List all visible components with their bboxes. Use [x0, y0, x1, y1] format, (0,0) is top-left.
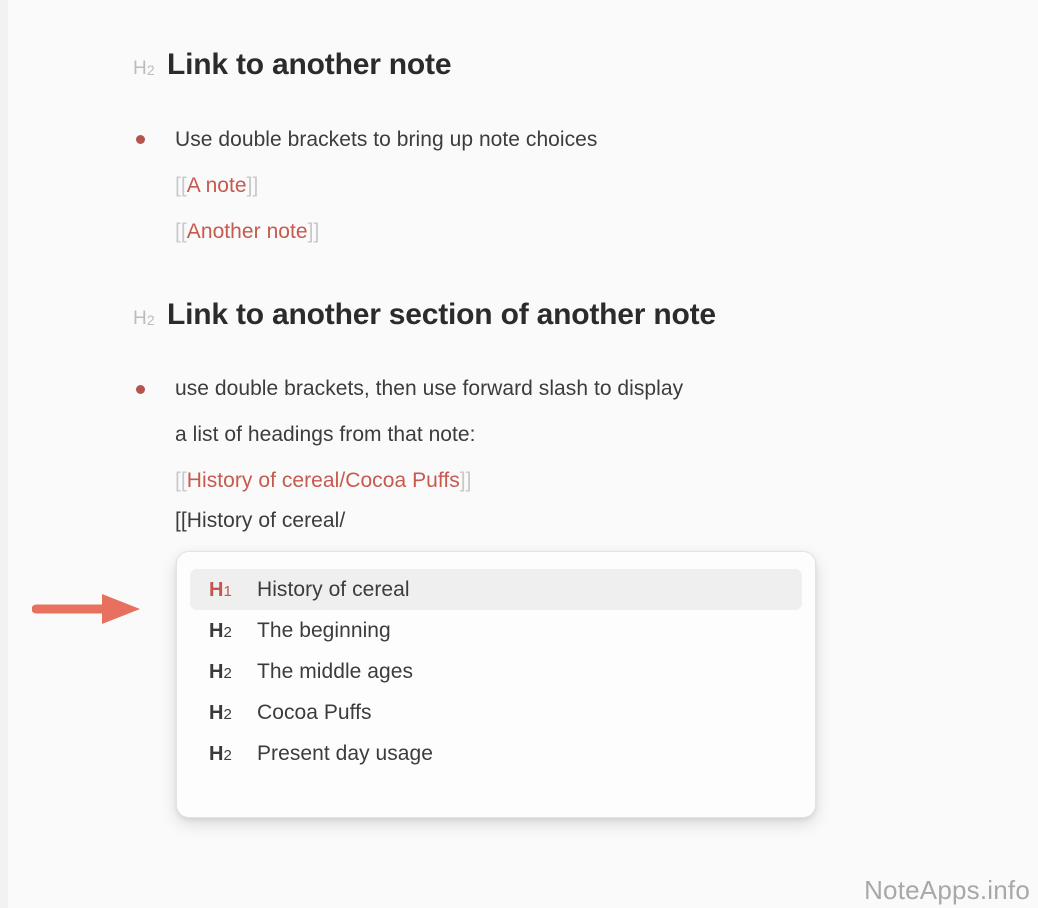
dropdown-item-label: History of cereal	[257, 578, 410, 602]
dropdown-item-label: Present day usage	[257, 742, 433, 766]
wiki-link-a-note[interactable]: [[A note]]	[175, 173, 258, 199]
dropdown-item-cocoa-puffs[interactable]: H2 Cocoa Puffs	[190, 692, 802, 733]
dropdown-item-the-middle-ages[interactable]: H2 The middle ages	[190, 651, 802, 692]
heading-level-badge: H2	[209, 703, 257, 723]
dropdown-item-label: The middle ages	[257, 660, 413, 684]
dropdown-item-label: Cocoa Puffs	[257, 701, 372, 725]
arrow-right-icon	[32, 592, 144, 626]
bracket-close: ]]	[460, 469, 472, 492]
bullet-text-1: Use double brackets to bring up note cho…	[175, 127, 597, 153]
bracket-open: [[	[175, 469, 187, 492]
note-editor[interactable]: H2 Link to another note Use double brack…	[0, 0, 1038, 908]
heading-text: Link to another note	[167, 48, 451, 81]
wiki-link-text[interactable]: A note	[187, 174, 247, 197]
watermark: NoteApps.info	[864, 875, 1030, 906]
typed-wiki-link-in-progress[interactable]: [[History of cereal/	[175, 508, 345, 534]
heading-autocomplete-dropdown[interactable]: H1 History of cereal H2 The beginning H2…	[176, 551, 816, 818]
bullet-dot-icon	[136, 135, 145, 144]
dropdown-item-the-beginning[interactable]: H2 The beginning	[190, 610, 802, 651]
bracket-open: [[	[175, 220, 187, 243]
dropdown-item-history-of-cereal[interactable]: H1 History of cereal	[190, 569, 802, 610]
heading-link-to-another-section[interactable]: H2 Link to another section of another no…	[133, 298, 716, 331]
bracket-close: ]]	[308, 220, 320, 243]
bracket-close: ]]	[247, 174, 259, 197]
heading-link-to-another-note[interactable]: H2 Link to another note	[133, 48, 451, 81]
bullet-text-2-line-2: a list of headings from that note:	[175, 422, 476, 448]
annotation-arrow	[32, 592, 144, 626]
bullet-text-2-line-1: use double brackets, then use forward sl…	[175, 376, 683, 402]
dropdown-item-present-day-usage[interactable]: H2 Present day usage	[190, 733, 802, 774]
bullet-dot-icon	[136, 385, 145, 394]
heading-level-badge: H1	[209, 580, 257, 600]
heading-level-badge: H2	[209, 662, 257, 682]
dropdown-item-label: The beginning	[257, 619, 391, 643]
wiki-link-another-note[interactable]: [[Another note]]	[175, 219, 319, 245]
heading-level-badge: H2	[209, 621, 257, 641]
bracket-open: [[	[175, 174, 187, 197]
wiki-link-history-of-cereal-cocoa-puffs[interactable]: [[History of cereal/Cocoa Puffs]]	[175, 468, 472, 494]
heading-level-badge: H2	[209, 744, 257, 764]
heading-level-badge: H2	[133, 59, 167, 78]
heading-text: Link to another section of another note	[167, 298, 716, 331]
heading-level-badge: H2	[133, 309, 167, 328]
wiki-link-text[interactable]: History of cereal/Cocoa Puffs	[187, 469, 460, 492]
wiki-link-text[interactable]: Another note	[187, 220, 308, 243]
